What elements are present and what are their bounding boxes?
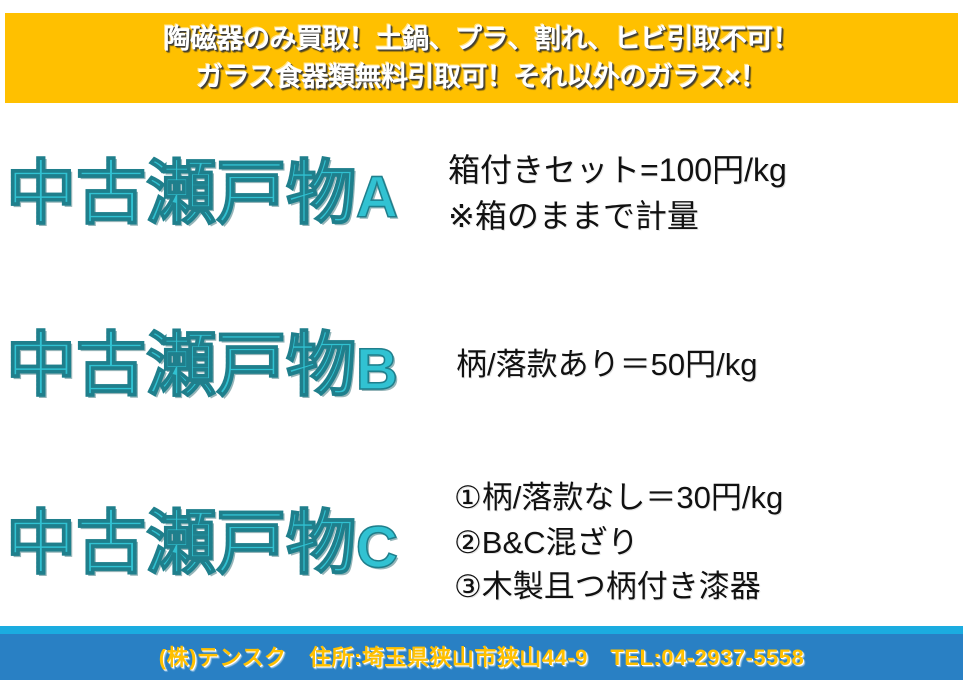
grade-title-a-suffix: A: [356, 165, 398, 230]
notice-banner: 陶磁器のみ買取！土鍋、プラ、割れ、ヒビ引取不可！ ガラス食器類無料引取可！それ以…: [5, 13, 958, 103]
price-detail-c: ①柄/落款なし＝30円/kg ②B&C混ざり ③木製且つ柄付き漆器: [432, 475, 963, 611]
contact-bar: (株)テンスク 住所:埼玉県狭山市狭山44-9 TEL:04-2937-5558: [0, 626, 963, 680]
contact-info: (株)テンスク 住所:埼玉県狭山市狭山44-9 TEL:04-2937-5558: [159, 640, 804, 672]
grade-title-b-suffix: B: [356, 337, 398, 402]
grade-title-b: 中古瀬戸物B: [0, 330, 432, 400]
notice-line-2: ガラス食器類無料引取可！それ以外のガラス×！: [196, 58, 767, 96]
price-detail-a-line-2: ※箱のままで計量: [448, 194, 963, 238]
price-row-b: 中古瀬戸物B 柄/落款あり＝50円/kg: [0, 300, 963, 430]
grade-title-c-main: 中古瀬戸物: [6, 504, 356, 582]
price-detail-b: 柄/落款あり＝50円/kg: [432, 342, 963, 389]
price-detail-c-line-3: ③木製且つ柄付き漆器: [454, 566, 963, 609]
price-row-c: 中古瀬戸物C ①柄/落款なし＝30円/kg ②B&C混ざり ③木製且つ柄付き漆器: [0, 468, 963, 618]
price-row-a: 中古瀬戸物A 箱付きセット=100円/kg ※箱のままで計量: [0, 128, 963, 258]
price-detail-c-line-1: ①柄/落款なし＝30円/kg: [454, 477, 963, 520]
grade-title-c-suffix: C: [356, 515, 398, 580]
price-detail-b-line-1: 柄/落款あり＝50円/kg: [456, 344, 963, 387]
grade-title-c: 中古瀬戸物C: [0, 508, 432, 578]
grade-title-a-main: 中古瀬戸物: [6, 154, 356, 232]
price-detail-c-line-2: ②B&C混ざり: [454, 522, 963, 565]
price-list: 中古瀬戸物A 箱付きセット=100円/kg ※箱のままで計量 中古瀬戸物B 柄/…: [0, 110, 963, 622]
price-detail-a-line-1: 箱付きセット=100円/kg: [448, 148, 963, 192]
grade-title-b-main: 中古瀬戸物: [6, 326, 356, 404]
notice-line-1: 陶磁器のみ買取！土鍋、プラ、割れ、ヒビ引取不可！: [164, 20, 800, 58]
price-detail-a: 箱付きセット=100円/kg ※箱のままで計量: [432, 146, 963, 240]
grade-title-a: 中古瀬戸物A: [0, 158, 432, 228]
